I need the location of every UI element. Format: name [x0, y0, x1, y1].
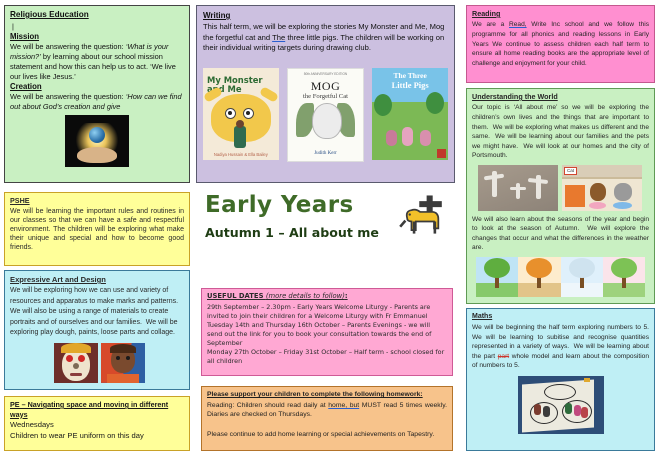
panel-understanding-the-world: Understanding the World Our topic is ‘Al… [466, 88, 655, 304]
collage-eye-right [78, 355, 85, 362]
re-creation-text-a: We will be answering the question: [10, 92, 126, 101]
figure-c [565, 403, 572, 414]
book1-author: Nadiya Hussain & Ella Bailey [203, 152, 279, 157]
book3-pig-1 [386, 130, 397, 146]
panel-useful-dates: USEFUL DATES (more details to follow): 2… [201, 288, 453, 376]
pshe-body: We will be learning the important rules … [10, 207, 184, 253]
newsletter-page: Religious Education | Mission We will be… [0, 0, 660, 455]
writing-heading: Writing [203, 10, 448, 21]
table-object [584, 378, 590, 382]
reading-heading: Reading [472, 9, 649, 19]
dates-heading-note: (more details to follow) [266, 292, 345, 300]
figure-b [543, 406, 550, 417]
figure-a [534, 404, 541, 415]
book2-title-line1: MOG [288, 79, 364, 94]
ead-photo-row [54, 343, 184, 383]
homework-line1-a: Reading: Children should read daily at [207, 402, 328, 409]
figure-d [574, 405, 581, 416]
panel-pe: PE – Navigating space and moving in diff… [4, 396, 190, 451]
homework-tapestry-line: Please continue to add home learning or … [207, 430, 447, 440]
panel-homework: Please support your children to complete… [201, 386, 453, 451]
monster-child-body [234, 126, 246, 148]
toy-dog [590, 183, 606, 201]
sand-figure-2-body [516, 183, 520, 199]
collage-mouth [70, 373, 82, 376]
book-cover-my-monster-and-me: My Monster and Me Nadiya Hussain & Ella … [203, 68, 279, 160]
season-summer [476, 257, 518, 297]
summer-canopy [484, 258, 510, 278]
book-cover-mog-the-forgetful-cat: 50th ANNIVERSARY EDITION MOG the Forgetf… [287, 68, 365, 162]
season-autumn [518, 257, 560, 297]
sand-figure-3-arms [528, 178, 548, 184]
book2-cat [312, 103, 342, 139]
pshe-heading: PSHE [10, 196, 184, 206]
panel-religious-education: Religious Education | Mission We will be… [4, 5, 190, 183]
maths-heading: Maths [472, 312, 649, 322]
reading-body-a: We are a [472, 21, 509, 28]
homework-spacer [207, 420, 447, 430]
re-cursor-line: | [10, 22, 14, 31]
toy-pets-shelf-photo: Cat [562, 165, 642, 211]
whole-ring [544, 384, 576, 400]
reading-body: We are a Read, Write Inc school and we f… [472, 20, 649, 68]
maths-body-struck: part [498, 353, 509, 360]
re-subheading-creation: Creation [10, 82, 184, 92]
pe-uniform-note: Children to wear PE uniform on this day [10, 431, 184, 441]
toy-cat [614, 183, 632, 201]
book2-foliage-left [296, 103, 314, 137]
child-collage-portrait-photo [54, 343, 98, 383]
book3-pig-2 [402, 127, 413, 146]
child-painted-portrait-photo [101, 343, 145, 383]
book-cover-the-three-little-pigs: The Three Little Pigs [372, 68, 448, 160]
panel-reading: Reading We are a Read, Write Inc school … [466, 5, 655, 83]
book2-top-note: 50th ANNIVERSARY EDITION [288, 72, 364, 76]
re-subheading-mission: Mission [10, 32, 184, 42]
book3-tree-right [426, 92, 444, 114]
dates-heading: USEFUL DATES (more details to follow): [207, 292, 447, 302]
spring-canopy [611, 258, 637, 278]
book2-author: Judith Kerr [288, 151, 364, 156]
panel-pshe: PSHE We will be learning the important r… [4, 192, 190, 266]
book3-publisher-badge [437, 149, 446, 158]
winter-canopy [569, 258, 595, 278]
book3-title-line2: Little Pigs [372, 80, 448, 90]
title-block: Early Years Autumn 1 – All about me [205, 192, 455, 262]
utw-body-1: Our topic is ‘All about me’ so we will b… [472, 103, 649, 160]
pet-bowl-blue [613, 202, 632, 209]
collage-nose [73, 363, 79, 369]
date-entry: Tuesday 14th and Thursday 16th October –… [207, 321, 447, 348]
collage-eye-left [66, 355, 73, 362]
reading-body-underlined: Read, [509, 21, 527, 28]
autumn-canopy [526, 258, 552, 278]
maths-body: We will be beginning the half term explo… [472, 323, 649, 371]
re-mission-text-a: We will be answering the question: [10, 42, 126, 51]
cat-label-tag: Cat [564, 167, 577, 176]
collage-hair [61, 343, 91, 353]
panel-maths: Maths We will be beginning the half term… [466, 308, 655, 451]
pet-house-roof [565, 185, 585, 207]
re-heading: Religious Education [10, 10, 184, 21]
sand-figure-2-arms [510, 187, 526, 190]
sand-tray-family-figures-photo [478, 165, 558, 211]
season-spring [603, 257, 645, 297]
four-seasons-trees-image [476, 257, 645, 297]
earth-in-hands-photo [65, 115, 129, 167]
book-cover-row: My Monster and Me Nadiya Hussain & Ella … [203, 68, 448, 160]
figure-e [581, 407, 588, 418]
dates-heading-colon: : [345, 292, 348, 300]
dates-heading-main: USEFUL DATES [207, 292, 266, 300]
painted-shirt [107, 374, 139, 383]
painted-eye-left [116, 356, 120, 360]
pe-day: Wednesdays [10, 420, 184, 430]
season-winter [561, 257, 603, 297]
pe-heading: PE – Navigating space and moving in diff… [10, 400, 184, 419]
homework-line1-underlined: home, but [328, 402, 359, 409]
part-whole-model-figures-photo [518, 376, 604, 434]
lamb-with-cross-icon [395, 192, 447, 244]
monster-pupil-right [246, 111, 250, 115]
utw-heading: Understanding the World [472, 92, 649, 102]
painted-hair [110, 344, 136, 353]
book3-pig-3 [420, 130, 431, 146]
utw-photo-row: Cat [478, 165, 649, 211]
ead-heading: Expressive Art and Design [10, 274, 184, 285]
book2-title-line2: the Forgetful Cat [288, 93, 364, 100]
date-entry: 29th September – 2.30pm - Early Years We… [207, 303, 447, 321]
homework-heading: Please support your children to complete… [207, 390, 447, 400]
date-entry: Monday 27th October – Friday 31st Octobe… [207, 348, 447, 366]
cupped-hands [77, 147, 117, 163]
painted-eye-right [126, 356, 130, 360]
homework-reading-line: Reading: Children should read daily at h… [207, 401, 447, 420]
writing-body-underlined: The [272, 33, 285, 42]
book3-title-line1: The Three [372, 71, 448, 80]
monster-pupil-left [228, 111, 232, 115]
monster-child-head [236, 120, 244, 128]
utw-body-2: We will also learn about the seasons of … [472, 215, 649, 253]
panel-expressive-art-and-design: Expressive Art and Design We will be exp… [4, 270, 190, 390]
pet-bowl-pink [589, 202, 606, 209]
ead-body: We will be exploring how we can use and … [10, 286, 184, 339]
